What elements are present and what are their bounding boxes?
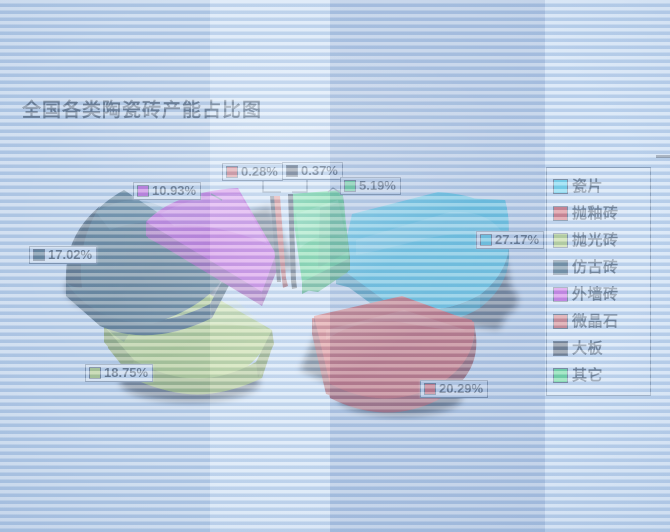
data-label-swatch-waiqiang (137, 185, 149, 197)
data-label-swatch-paoyouzhuan (424, 383, 436, 395)
data-label-text-fanggu: 17.02% (48, 248, 92, 262)
data-label-fanggu: 17.02% (29, 246, 97, 264)
legend-item-paoguang[interactable]: 抛光砖 (553, 227, 646, 254)
data-label-waiqiang: 10.93% (133, 182, 201, 200)
data-label-text-paoyouzhuan: 20.29% (439, 382, 483, 396)
legend-item-waiqiang[interactable]: 外墙砖 (553, 281, 646, 308)
legend-swatch-daban (553, 341, 568, 356)
legend-swatch-ciphan (553, 179, 568, 194)
legend-label-qita: 其它 (572, 368, 603, 383)
page-title: 全国各类陶瓷砖产能占比图 (22, 95, 262, 122)
legend-label-waiqiang: 外墙砖 (572, 287, 619, 302)
data-label-paoguang: 18.75% (85, 364, 153, 382)
legend-item-fanggu[interactable]: 仿古砖 (553, 254, 646, 281)
legend-swatch-qita (553, 368, 568, 383)
data-label-swatch-daban (286, 165, 298, 177)
legend-label-paoguang: 抛光砖 (572, 233, 619, 248)
legend-item-weijingshi[interactable]: 微晶石 (553, 308, 646, 335)
data-label-swatch-weijingshi (226, 166, 238, 178)
legend-label-paoyouzhuan: 抛釉砖 (572, 206, 619, 221)
data-label-daban: 0.37% (282, 162, 343, 180)
legend-swatch-waiqiang (553, 287, 568, 302)
data-label-swatch-ciphan (480, 234, 492, 246)
legend-item-ciphan[interactable]: 瓷片 (553, 173, 646, 200)
legend-label-daban: 大板 (572, 341, 603, 356)
data-label-ciphan: 27.17% (476, 231, 544, 249)
legend-item-paoyouzhuan[interactable]: 抛釉砖 (553, 200, 646, 227)
legend-item-daban[interactable]: 大板 (553, 335, 646, 362)
data-label-text-daban: 0.37% (301, 164, 338, 178)
data-label-text-weijingshi: 0.28% (241, 165, 278, 179)
edge-artifact (656, 155, 670, 158)
chart-legend: 瓷片 抛釉砖 抛光砖 仿古砖 外墙砖 微晶石 大板 其它 (546, 167, 651, 396)
legend-label-ciphan: 瓷片 (572, 179, 603, 194)
data-label-qita: 5.19% (340, 177, 401, 195)
data-label-text-ciphan: 27.17% (495, 233, 539, 247)
pie-slice-ciphan[interactable] (336, 188, 509, 323)
legend-swatch-paoyouzhuan (553, 206, 568, 221)
legend-swatch-fanggu (553, 260, 568, 275)
data-label-text-waiqiang: 10.93% (152, 184, 196, 198)
screenshot-canvas: 全国各类陶瓷砖产能占比图 (0, 0, 670, 532)
data-label-text-qita: 5.19% (359, 179, 396, 193)
legend-label-fanggu: 仿古砖 (572, 260, 619, 275)
data-label-swatch-fanggu (33, 249, 45, 261)
legend-label-weijingshi: 微晶石 (572, 314, 619, 329)
data-label-swatch-paoguang (89, 367, 101, 379)
data-label-text-paoguang: 18.75% (104, 366, 148, 380)
data-label-swatch-qita (344, 180, 356, 192)
legend-swatch-weijingshi (553, 314, 568, 329)
legend-swatch-paoguang (553, 233, 568, 248)
data-label-paoyouzhuan: 20.29% (420, 380, 488, 398)
data-label-weijingshi: 0.28% (222, 163, 283, 181)
legend-item-qita[interactable]: 其它 (553, 362, 646, 389)
